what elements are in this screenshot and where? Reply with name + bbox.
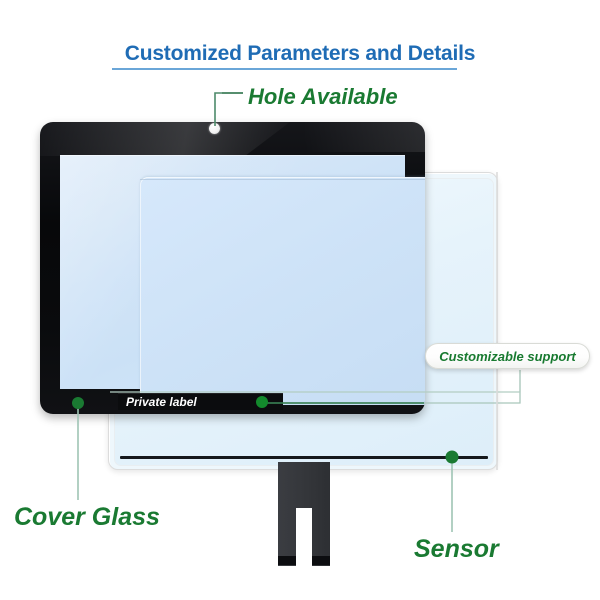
page-title: Customized Parameters and Details [0, 42, 600, 66]
private-label-text: Private label [126, 395, 197, 409]
private-label-strip: Private label [118, 393, 283, 410]
sensor-bottom-edge-line [120, 456, 488, 459]
cover-glass-module [40, 122, 425, 414]
camera-hole-icon [209, 123, 220, 134]
bezel-gloss-highlight-right [305, 122, 425, 152]
callout-label-hole-available: Hole Available [248, 84, 398, 110]
inner-glass-panel-edge [140, 179, 425, 180]
diagram-canvas: Customized Parameters and Details Privat… [0, 0, 600, 600]
callout-label-sensor: Sensor [414, 535, 499, 564]
inner-glass-panel [140, 177, 425, 405]
callout-label-cover-glass: Cover Glass [14, 503, 160, 532]
title-underline [112, 68, 457, 70]
callout-pill-label: Customizable support [439, 349, 576, 364]
callout-pill-customizable-support: Customizable support [425, 343, 590, 369]
bezel-gloss-highlight [40, 122, 290, 156]
flex-cable-contact-right [312, 556, 330, 565]
flex-cable-notch [296, 508, 312, 568]
cover-glass-surface [60, 155, 405, 389]
flex-cable-contact-left [278, 556, 296, 565]
